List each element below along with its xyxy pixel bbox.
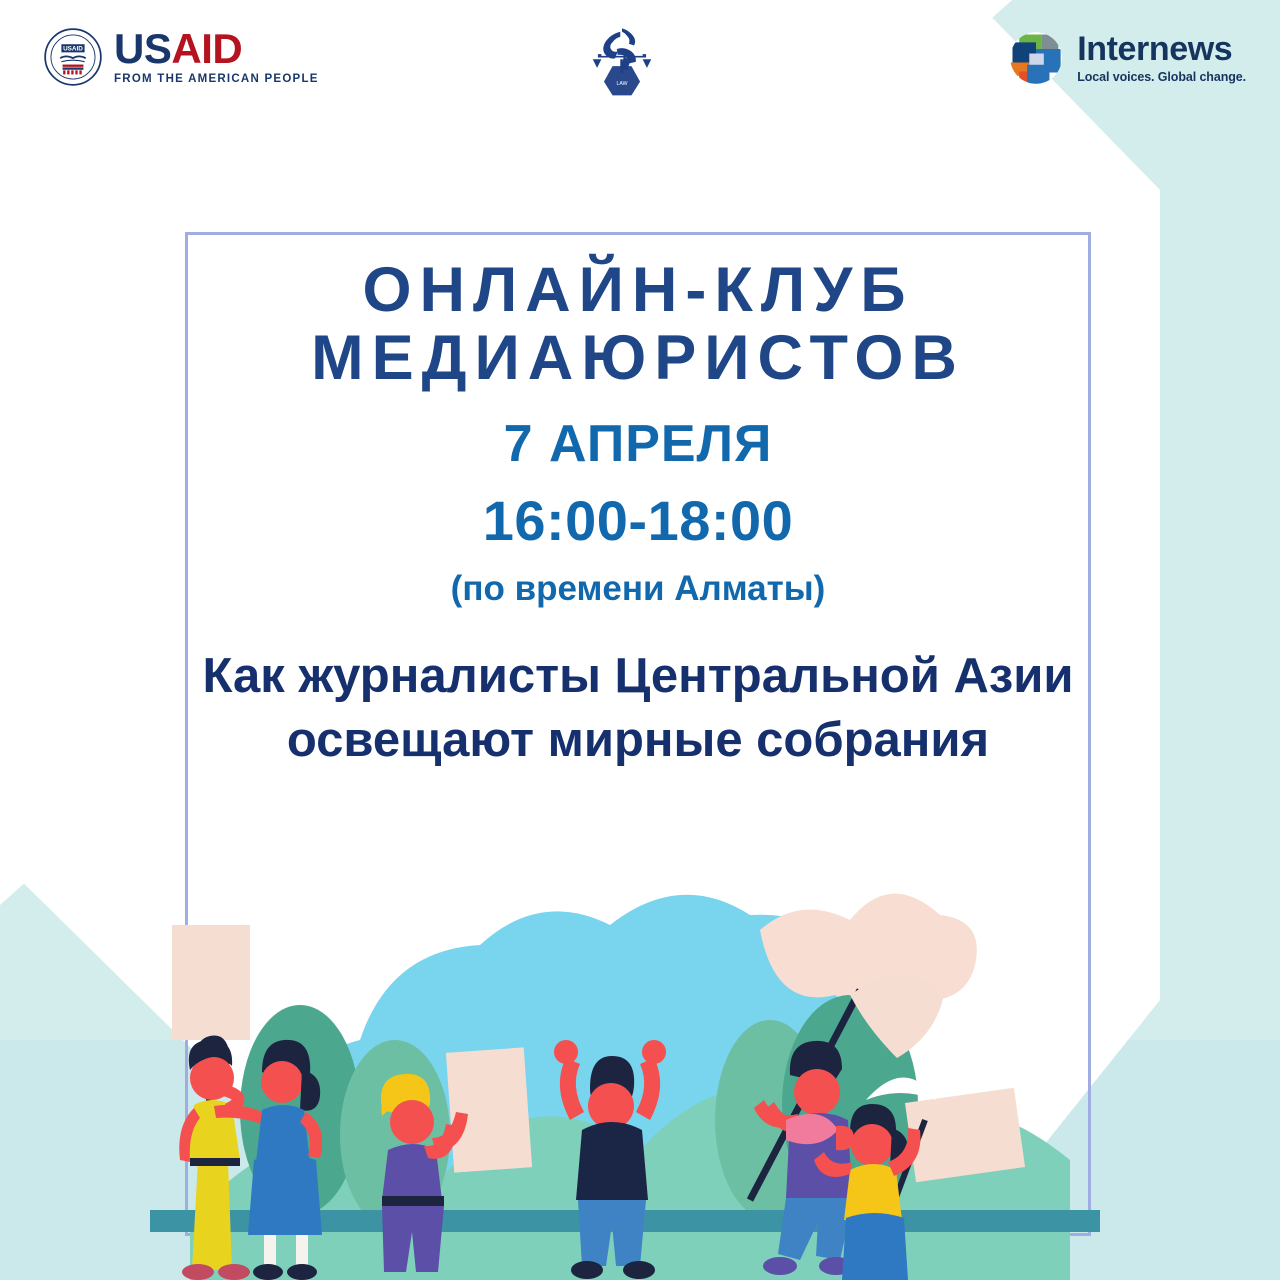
protest-scene-svg: [150, 820, 1150, 1280]
event-time: 16:00-18:00: [185, 488, 1091, 553]
head-3: [390, 1100, 434, 1144]
shoe-2a: [253, 1264, 283, 1280]
internews-wordmark: Internews: [1077, 32, 1246, 66]
fist-4-left: [554, 1040, 578, 1064]
head-5: [794, 1069, 840, 1115]
usaid-wordmark-us: US: [114, 25, 171, 72]
internews-globe-icon: [1008, 30, 1064, 86]
shoe-2b: [287, 1264, 317, 1280]
event-subtitle-line1: Как журналисты Центральной Азии: [195, 645, 1081, 709]
event-subtitle-line2: освещают мирные собрания: [195, 709, 1081, 773]
top-2: [256, 1105, 310, 1162]
protest-sign-3: [905, 1088, 1025, 1183]
usaid-wordmark-aid: AID: [171, 25, 242, 72]
shoe-4a: [571, 1261, 603, 1279]
belt-3: [382, 1196, 444, 1206]
dove-scales-of-justice-icon: LAW: [578, 18, 666, 104]
event-timezone: (по времени Алматы): [185, 569, 1091, 609]
shoe-4b: [623, 1261, 655, 1279]
belt-1: [190, 1158, 240, 1166]
skirt-2: [248, 1155, 322, 1235]
shoe-5a: [763, 1257, 797, 1275]
usaid-tagline: FROM THE AMERICAN PEOPLE: [114, 74, 319, 86]
usaid-logo: USAID USAID FROM THE AMERICAN PEOPLE: [44, 28, 319, 86]
headline-block: ОНЛАЙН-КЛУБ МЕДИАЮРИСТОВ 7 АПРЕЛЯ 16:00-…: [185, 256, 1091, 772]
protest-sign-1: [172, 925, 250, 1040]
event-date: 7 АПРЕЛЯ: [185, 414, 1091, 474]
internews-logo: Internews Local voices. Global change.: [1008, 30, 1246, 86]
event-title-line2: МЕДИАЮРИСТОВ: [185, 324, 1091, 392]
head-2: [261, 1061, 303, 1103]
skirt-6: [842, 1213, 908, 1280]
poster-canvas: USAID USAID FROM THE AMERICAN PEOPLE: [0, 0, 1280, 1280]
svg-text:USAID: USAID: [63, 46, 83, 53]
svg-text:LAW: LAW: [617, 81, 628, 87]
fist-4-right: [642, 1040, 666, 1064]
shoe-1a: [182, 1264, 214, 1280]
head-6: [851, 1124, 893, 1166]
peaceful-assembly-protesters-illustration: [150, 820, 1150, 1280]
shoe-1b: [218, 1264, 250, 1280]
event-title-line1: ОНЛАЙН-КЛУБ: [185, 256, 1091, 324]
protest-sign-2: [446, 1047, 532, 1172]
tanktop-4: [576, 1122, 648, 1200]
usaid-seal-icon: USAID: [44, 28, 102, 86]
internews-tagline: Local voices. Global change.: [1077, 71, 1246, 84]
